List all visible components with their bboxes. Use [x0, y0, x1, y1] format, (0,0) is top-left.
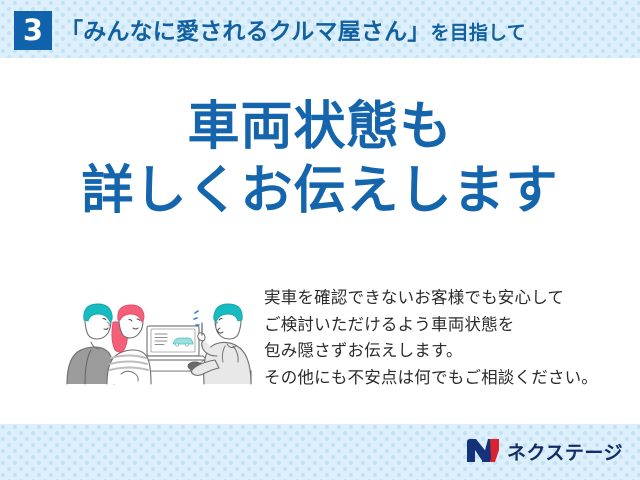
headline-line-1: 車両状態も — [0, 96, 640, 158]
speech-marks-icon — [194, 311, 199, 325]
header-title: 「みんなに愛されるクルマ屋さん」 を目指して — [60, 12, 526, 48]
body-copy: 実車を確認できないお客様でも安心して ご検討いただけるよう車両状態を 包み隠さず… — [264, 285, 614, 391]
body-copy-line-1: 実車を確認できないお客様でも安心して — [264, 285, 614, 312]
body-copy-line-2: ご検討いただけるよう車両状態を — [264, 312, 614, 339]
headline-line-2: 詳しくお伝えします — [0, 158, 640, 224]
brand-logo-text: ネクステージ — [507, 438, 623, 465]
brand-logo: ネクステージ — [466, 436, 623, 466]
customer-woman — [107, 305, 151, 384]
customer-man — [67, 304, 114, 384]
nextage-n-logo-icon — [466, 438, 500, 464]
body-copy-line-4: その他にも不安点は何でもご相談ください。 — [264, 365, 614, 392]
consultation-illustration — [55, 278, 255, 386]
promo-banner: 3 「みんなに愛されるクルマ屋さん」 を目指して 車両状態も 詳しくお伝えします — [0, 0, 640, 480]
staff-person — [192, 304, 252, 384]
laptop-icon — [139, 326, 207, 360]
header-title-quoted: 「みんなに愛されるクルマ屋さん」 — [60, 12, 431, 46]
header-title-suffix: を目指して — [431, 18, 526, 45]
step-number-badge: 3 — [14, 11, 52, 50]
body-copy-line-3: 包み隠さずお伝えします。 — [264, 338, 614, 365]
consultation-illustration-svg — [55, 278, 255, 386]
headline: 車両状態も 詳しくお伝えします — [0, 96, 640, 224]
